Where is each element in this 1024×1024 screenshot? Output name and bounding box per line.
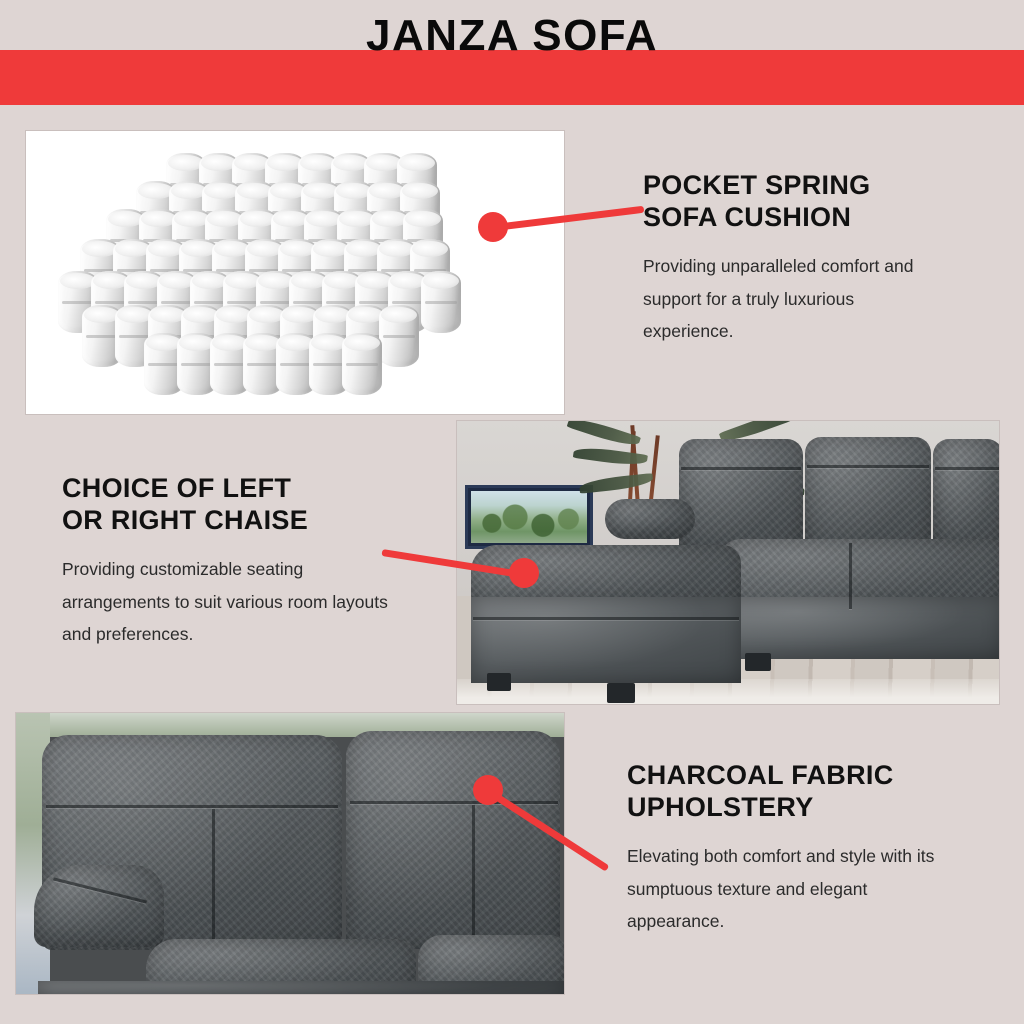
callout-body-fabric: Elevating both comfort and style with it…: [627, 840, 957, 937]
callout-pocket-spring: POCKET SPRING SOFA CUSHION Providing unp…: [643, 170, 943, 347]
callout-body-pocket-spring: Providing unparalleled comfort and suppo…: [643, 250, 943, 347]
marker-dot-pocket-spring: [478, 212, 508, 242]
callout-heading-chaise: CHOICE OF LEFT OR RIGHT CHAISE: [62, 473, 392, 536]
callout-heading-fabric: CHARCOAL FABRIC UPHOLSTERY: [627, 760, 957, 823]
marker-dot-fabric: [473, 775, 503, 805]
page-title: JANZA SOFA: [0, 14, 1024, 58]
callout-body-chaise: Providing customizable seating arrangeme…: [62, 553, 392, 650]
callout-charcoal-fabric: CHARCOAL FABRIC UPHOLSTERY Elevating bot…: [627, 760, 957, 937]
callout-heading-pocket-spring: POCKET SPRING SOFA CUSHION: [643, 170, 943, 233]
infographic-canvas: JANZA SOFA: [0, 0, 1024, 1024]
fabric-closeup-photo: [15, 712, 565, 995]
callout-chaise-choice: CHOICE OF LEFT OR RIGHT CHAISE Providing…: [62, 473, 392, 650]
marker-dot-chaise: [509, 558, 539, 588]
chaise-sofa-photo: [456, 420, 1000, 705]
pocket-springs-photo: [25, 130, 565, 415]
spring-coil-block: [48, 147, 548, 405]
